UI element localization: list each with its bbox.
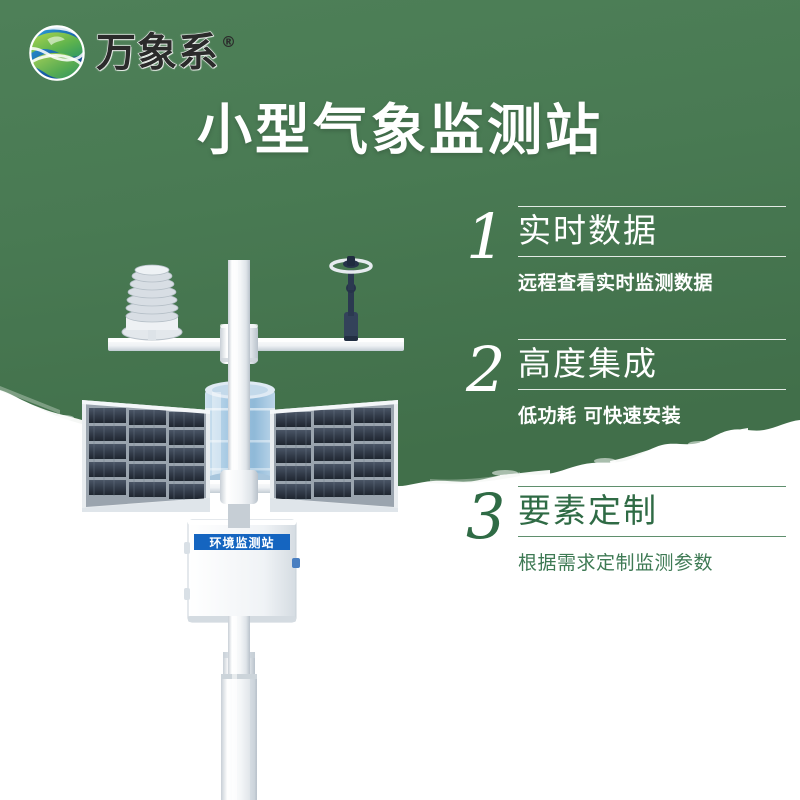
- feature-title: 实时数据: [518, 206, 786, 257]
- solar-panel-right: [270, 400, 398, 512]
- weather-station-illustration: 环境监测站: [60, 212, 440, 800]
- brand-logo: 万象系 ®: [26, 22, 236, 84]
- control-box: 环境监测站: [184, 504, 300, 622]
- mast-lower-section: [221, 616, 257, 800]
- feature-number: 2: [466, 341, 518, 400]
- feature-number: 3: [466, 488, 518, 547]
- globe-swirl-icon: [26, 22, 88, 84]
- feature-title: 高度集成: [518, 339, 786, 390]
- radiation-shield-sensor: [122, 265, 182, 340]
- feature-item-3: 3 要素定制 根据需求定制监测参数: [466, 486, 786, 575]
- feature-title: 要素定制: [518, 486, 786, 537]
- feature-number: 1: [466, 208, 518, 267]
- poster-canvas: 万象系 ® 小型气象监测站 1 实时数据 远程查看实时监测数据 2 高度集成 低…: [0, 0, 800, 800]
- control-box-label: 环境监测站: [209, 535, 274, 550]
- feature-subtitle: 低功耗 可快速安装: [518, 401, 786, 428]
- feature-item-2: 2 高度集成 低功耗 可快速安装: [466, 339, 786, 428]
- registered-trademark-icon: ®: [221, 35, 236, 50]
- feature-subtitle: 根据需求定制监测参数: [518, 548, 786, 575]
- brand-name: 万象系: [96, 33, 219, 73]
- feature-subtitle: 远程查看实时监测数据: [518, 268, 786, 295]
- ultrasonic-wind-sensor: [331, 256, 371, 341]
- page-title: 小型气象监测站: [0, 102, 800, 160]
- rain-gauge: [205, 260, 275, 490]
- feature-item-1: 1 实时数据 远程查看实时监测数据: [466, 206, 786, 295]
- solar-panel-left: [82, 400, 210, 512]
- feature-list: 1 实时数据 远程查看实时监测数据 2 高度集成 低功耗 可快速安装 3 要素定…: [466, 206, 786, 605]
